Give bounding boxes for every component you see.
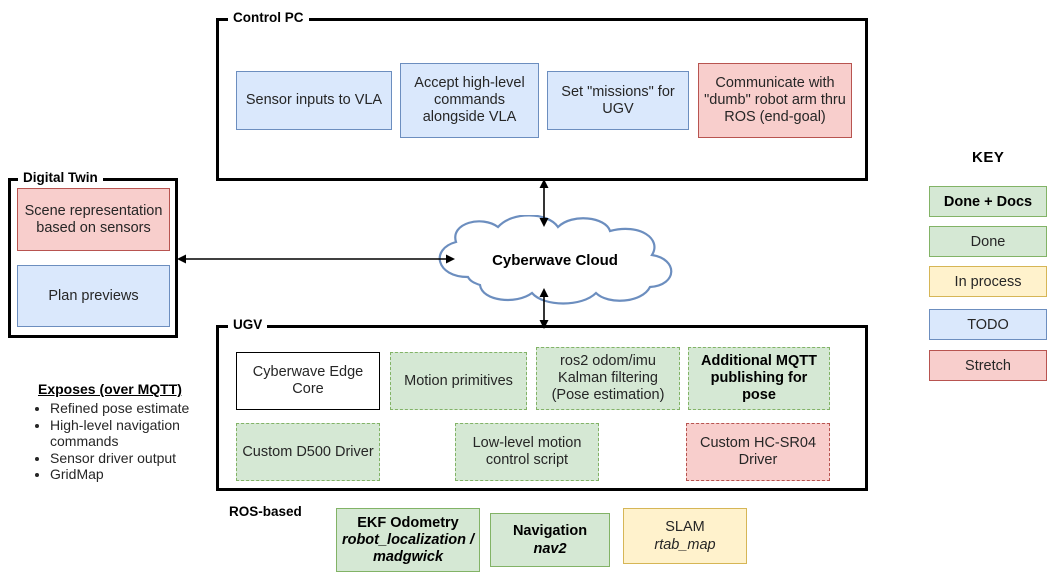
node-cyberwave-edge-core-label: Cyberwave Edge Core <box>241 364 375 398</box>
diagram-canvas: Control PC Sensor inputs to VLA Accept h… <box>0 0 1057 581</box>
node-motion-primitives-label: Motion primitives <box>395 373 522 390</box>
node-ekf-odometry-title: EKF Odometry <box>341 515 475 532</box>
cloud-label: Cyberwave Cloud <box>420 252 690 269</box>
key-title: KEY <box>972 149 1004 166</box>
node-navigation-title: Navigation <box>495 522 605 540</box>
node-navigation[interactable]: Navigation nav2 <box>490 513 610 567</box>
group-digital-twin-label: Digital Twin <box>18 171 103 185</box>
node-communicate-robot-arm-label: Communicate with "dumb" robot arm thru R… <box>703 75 847 126</box>
node-sensor-inputs-vla-label: Sensor inputs to VLA <box>241 92 387 109</box>
arrow-controlpc-cloud <box>532 178 556 228</box>
node-scene-representation-label: Scene representation based on sensors <box>22 203 165 237</box>
node-navigation-subtitle: nav2 <box>495 540 605 558</box>
node-accept-high-level-commands[interactable]: Accept high-level commands alongside VLA <box>400 63 539 138</box>
node-set-missions-ugv-label: Set "missions" for UGV <box>552 84 684 118</box>
key-item-done-label: Done <box>971 234 1006 250</box>
node-ekf-odometry-subtitle: robot_localization / madgwick <box>341 532 475 566</box>
key-item-todo-label: TODO <box>967 317 1009 333</box>
node-sensor-inputs-vla[interactable]: Sensor inputs to VLA <box>236 71 392 130</box>
node-plan-previews-label: Plan previews <box>22 288 165 305</box>
arrow-digitaltwin-cloud <box>176 249 456 269</box>
group-ugv-label: UGV <box>228 318 267 332</box>
node-cyberwave-edge-core[interactable]: Cyberwave Edge Core <box>236 352 380 410</box>
exposes-list-item: Sensor driver output <box>50 450 250 467</box>
exposes-list-item: GridMap <box>50 466 250 483</box>
exposes-list-item: Refined pose estimate <box>50 400 250 417</box>
arrow-cloud-ugv <box>532 288 556 330</box>
node-communicate-robot-arm[interactable]: Communicate with "dumb" robot arm thru R… <box>698 63 852 138</box>
exposes-title: Exposes (over MQTT) <box>38 381 182 397</box>
node-custom-hcsr04-driver-label: Custom HC-SR04 Driver <box>691 435 825 469</box>
node-custom-d500-driver[interactable]: Custom D500 Driver <box>236 423 380 481</box>
exposes-list-item: High-level navigation commands <box>50 417 250 450</box>
node-slam[interactable]: SLAM rtab_map <box>623 508 747 564</box>
key-item-in-process: In process <box>929 266 1047 297</box>
node-additional-mqtt-publishing[interactable]: Additional MQTT publishing for pose <box>688 347 830 410</box>
node-motion-primitives[interactable]: Motion primitives <box>390 352 527 410</box>
key-item-stretch-label: Stretch <box>965 358 1011 374</box>
key-item-done: Done <box>929 226 1047 257</box>
node-ros2-kalman-filtering-label: ros2 odom/imu Kalman filtering (Pose est… <box>541 353 675 404</box>
key-item-todo: TODO <box>929 309 1047 340</box>
key-item-in-process-label: In process <box>955 274 1022 290</box>
node-ekf-odometry[interactable]: EKF Odometry robot_localization / madgwi… <box>336 508 480 572</box>
key-item-stretch: Stretch <box>929 350 1047 381</box>
node-set-missions-ugv[interactable]: Set "missions" for UGV <box>547 71 689 130</box>
key-item-done-docs: Done + Docs <box>929 186 1047 217</box>
node-custom-hcsr04-driver[interactable]: Custom HC-SR04 Driver <box>686 423 830 481</box>
group-control-pc-label: Control PC <box>228 11 309 25</box>
exposes-list: Refined pose estimate High-level navigat… <box>30 400 250 483</box>
node-scene-representation[interactable]: Scene representation based on sensors <box>17 188 170 251</box>
node-ros2-kalman-filtering[interactable]: ros2 odom/imu Kalman filtering (Pose est… <box>536 347 680 410</box>
node-accept-high-level-commands-label: Accept high-level commands alongside VLA <box>405 75 534 126</box>
node-plan-previews[interactable]: Plan previews <box>17 265 170 327</box>
node-low-level-motion-control[interactable]: Low-level motion control script <box>455 423 599 481</box>
node-slam-subtitle: rtab_map <box>628 536 742 554</box>
key-item-done-docs-label: Done + Docs <box>944 194 1032 210</box>
node-additional-mqtt-publishing-label: Additional MQTT publishing for pose <box>693 353 825 404</box>
node-low-level-motion-control-label: Low-level motion control script <box>460 435 594 469</box>
ros-based-label: ROS-based <box>229 504 302 519</box>
node-slam-title: SLAM <box>628 518 742 536</box>
node-custom-d500-driver-label: Custom D500 Driver <box>241 444 375 461</box>
